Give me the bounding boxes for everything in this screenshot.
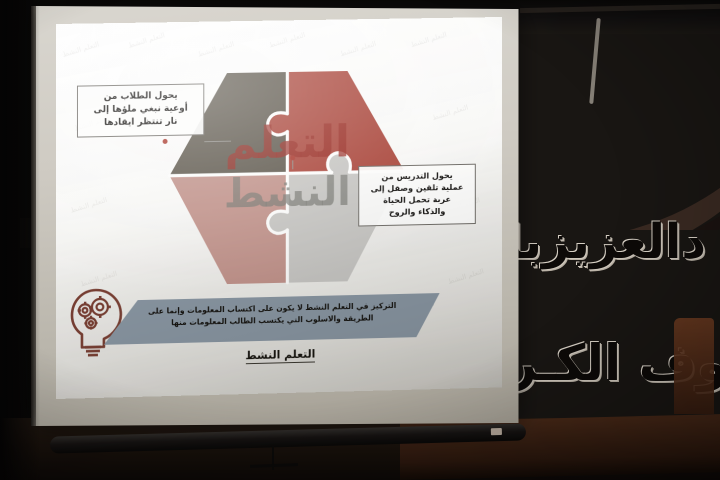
chair-back bbox=[674, 318, 714, 414]
watermark: التعلم النشط bbox=[447, 267, 485, 286]
watermark: التعلم النشط bbox=[431, 103, 469, 122]
head-with-gears-icon bbox=[66, 284, 130, 357]
watermark: التعلم النشط bbox=[410, 31, 448, 49]
callout-right-leader-line bbox=[292, 159, 293, 169]
projection-screen-assembly: التعلم النشط التعلم النشط التعلم النشط ا… bbox=[36, 6, 526, 461]
callout-right-line-4: والذكاء والروح bbox=[364, 205, 470, 219]
watermark: التعلم النشط bbox=[70, 196, 108, 215]
connector-dot-icon bbox=[290, 155, 295, 160]
callout-left-line-3: نار تنتظر ايقادها bbox=[83, 115, 198, 130]
watermark: التعلم النشط bbox=[339, 40, 377, 59]
projected-slide: التعلم النشط التعلم النشط التعلم النشط ا… bbox=[56, 17, 502, 399]
screen-weighted-bar[interactable] bbox=[50, 423, 526, 453]
screen-bar-badge bbox=[491, 428, 502, 435]
callout-left-line-2: أوعية نبغي ملؤها إلى bbox=[83, 102, 198, 117]
callout-right-line-2: عملية تلقين وصقل إلى bbox=[364, 181, 470, 195]
callout-right: يحول التدريس من عملية تلقين وصقل إلى عرب… bbox=[358, 164, 476, 226]
callout-left: يحول الطلاب من أوعية نبغي ملؤها إلى نار … bbox=[77, 83, 204, 137]
room-photo-scene: دالعزيزبا وف الكـر التعلم النشط التعلم ا… bbox=[0, 0, 720, 480]
slide-footer-title-text: التعلم النشط bbox=[245, 348, 315, 365]
watermark: التعلم النشط bbox=[197, 40, 235, 59]
watermark: التعلم النشط bbox=[127, 31, 165, 50]
watermark: التعلم النشط bbox=[62, 40, 101, 59]
watermark: التعلم النشط bbox=[268, 31, 306, 50]
bottom-banner: التركيز في التعلم النشط لا يكون على اكتس… bbox=[104, 293, 440, 345]
